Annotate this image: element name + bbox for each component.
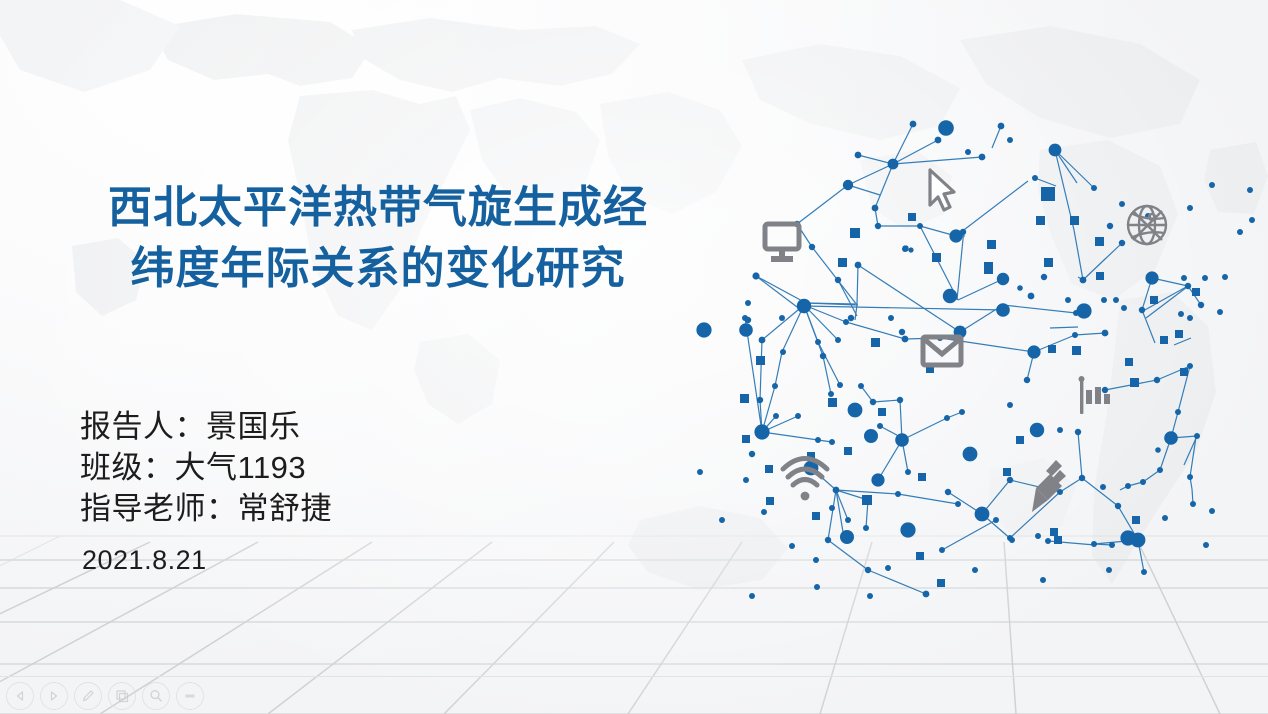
date-label: 2021.8.21: [82, 545, 207, 576]
network-sphere-illustration: [0, 0, 1268, 714]
ellipsis-icon: [182, 688, 198, 704]
pen-tool-button[interactable]: [74, 682, 102, 710]
background-vignette: [0, 0, 1268, 714]
magnifier-icon: [148, 688, 164, 704]
slideshow-toolbar: [6, 682, 204, 710]
triangle-left-icon: [13, 689, 27, 703]
previous-slide-button[interactable]: [6, 682, 34, 710]
perspective-floor-grid: [0, 0, 1268, 714]
triangle-right-icon: [47, 689, 61, 703]
envelope-icon: [923, 337, 961, 365]
pen-nib-icon: [1032, 460, 1066, 512]
copy-icon: [114, 688, 130, 704]
wifi-icon: [783, 459, 827, 486]
pen-icon: [80, 688, 96, 704]
globe-icon: [1128, 206, 1166, 244]
page-title: 西北太平洋热带气旋生成经 纬度年际关系的变化研究: [48, 178, 708, 299]
wifi-dot-icon: [801, 492, 810, 501]
world-map-watermark: [0, 0, 1268, 714]
presenter-info: 报告人：景国乐 班级：大气1193 指导老师：常舒捷: [80, 406, 600, 530]
toolbar-divider: [0, 676, 1268, 677]
duplicate-button[interactable]: [108, 682, 136, 710]
presentation-slide: 西北太平洋热带气旋生成经 纬度年际关系的变化研究 报告人：景国乐 班级：大气11…: [0, 0, 1268, 714]
cursor-icon: [930, 170, 954, 210]
chart-flag-icon: [1079, 376, 1111, 414]
zoom-button[interactable]: [142, 682, 170, 710]
next-slide-button[interactable]: [40, 682, 68, 710]
more-options-button[interactable]: [176, 682, 204, 710]
monitor-icon: [765, 224, 799, 259]
